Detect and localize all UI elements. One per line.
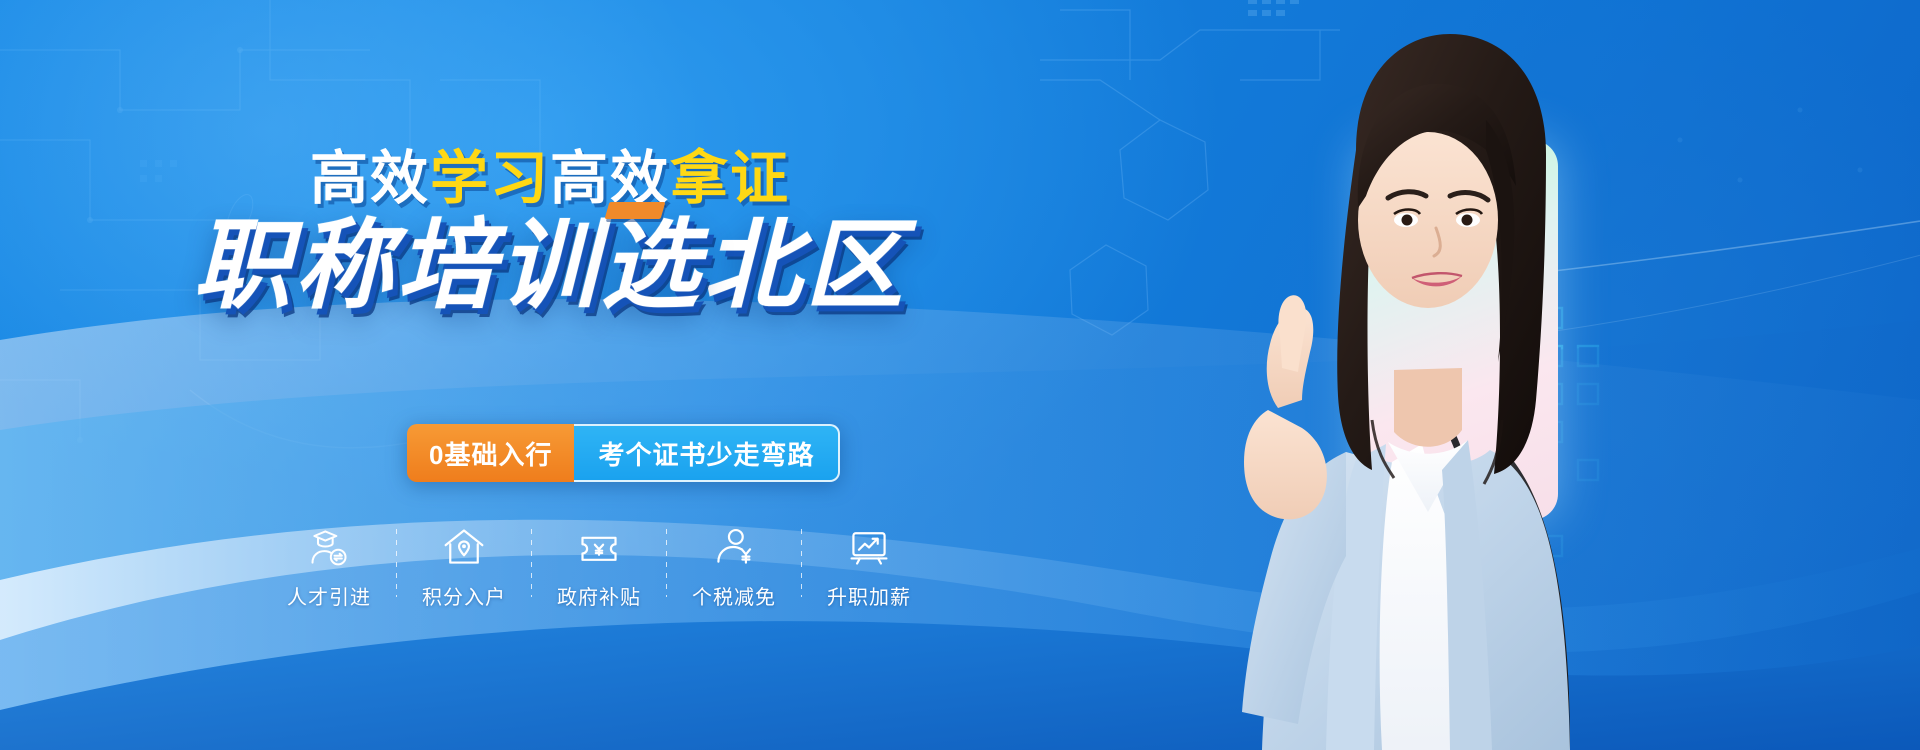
feature-item-residency[interactable]: 积分入户 <box>397 525 531 610</box>
headline-main-after: 北区 <box>703 210 907 320</box>
orange-accent-stroke <box>605 202 666 219</box>
graduate-talent-icon <box>307 525 351 569</box>
headline-top-part-4: 拿证 <box>670 146 790 211</box>
copy-block: 高效学习高效拿证 职称培训选北区 0基础入行 考个证书少走弯路 人才引进 <box>0 0 1100 750</box>
house-pin-icon <box>442 525 486 569</box>
person-yuan-icon <box>712 525 756 569</box>
coupon-yuan-icon <box>577 525 621 569</box>
feature-item-tax[interactable]: 个税减免 <box>667 525 801 610</box>
feature-label-residency: 积分入户 <box>422 581 506 610</box>
feature-item-subsidy[interactable]: 政府补贴 <box>532 525 666 610</box>
growth-chart-icon <box>847 525 891 569</box>
tagline-badge: 0基础入行 考个证书少走弯路 <box>407 424 840 482</box>
badge-left-label: 0基础入行 <box>407 424 574 482</box>
headline-top-part-2: 学习 <box>430 146 550 211</box>
feature-item-promotion[interactable]: 升职加薪 <box>802 525 936 610</box>
hero-figure <box>1150 0 1790 750</box>
feature-label-subsidy: 政府补贴 <box>557 581 641 610</box>
headline-top: 高效学习高效拿证 <box>0 150 1100 208</box>
badge-right-label: 考个证书少走弯路 <box>574 424 840 482</box>
headline-main-before: 职称培训 <box>193 210 601 320</box>
instructor-photo <box>1150 0 1790 750</box>
headline-top-part-1: 高效 <box>310 146 430 211</box>
promo-banner: 高效学习高效拿证 职称培训选北区 0基础入行 考个证书少走弯路 人才引进 <box>0 0 1920 750</box>
feature-label-talent: 人才引进 <box>287 581 371 610</box>
feature-list: 人才引进 积分入户 政府补贴 <box>262 525 936 610</box>
headline-main-accent: 选 <box>601 210 703 320</box>
feature-label-promotion: 升职加薪 <box>827 581 911 610</box>
headline-main: 职称培训选北区 <box>0 216 1100 314</box>
headline-main-accent-holder: 选 <box>601 216 703 314</box>
feature-item-talent[interactable]: 人才引进 <box>262 525 396 610</box>
feature-label-tax: 个税减免 <box>692 581 776 610</box>
